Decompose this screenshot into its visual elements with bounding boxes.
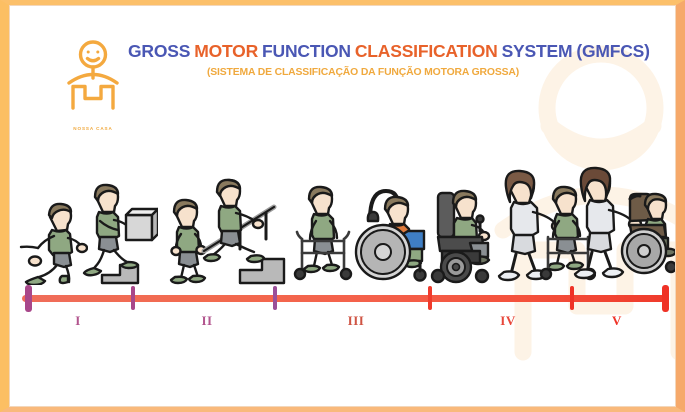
timeline-tick xyxy=(428,286,432,310)
timeline-axis xyxy=(22,295,665,302)
title-word: MOTOR xyxy=(194,41,258,61)
page-title: GROSSMOTORFUNCTIONCLASSIFICATIONSYSTEM(G… xyxy=(128,40,633,62)
title-word: CLASSIFICATION xyxy=(355,41,498,61)
timeline-tick xyxy=(662,285,669,312)
gmfcs-poster: NOSSA CASA GROSSMOTORFUNCTIONCLASSIFICAT… xyxy=(0,0,685,412)
title-word: GROSS xyxy=(128,41,190,61)
gmfcs-figures-strip xyxy=(0,140,685,285)
poster-header: NOSSA CASA GROSSMOTORFUNCTIONCLASSIFICAT… xyxy=(0,30,685,110)
page-subtitle: (SISTEMA DE CLASSIFICAÇÃO DA FUNÇÃO MOTO… xyxy=(128,67,598,78)
figure-child-carrying-box-up-stairs xyxy=(76,179,158,285)
timeline-tick xyxy=(570,286,574,310)
title-word: SYSTEM xyxy=(502,41,573,61)
nossa-casa-logo-icon xyxy=(58,38,128,110)
title-word: (GMFCS) xyxy=(576,41,649,61)
figure-child-self-propelling-manual-wheelchair xyxy=(350,183,428,285)
gmfcs-level-timeline: IIIIIIIVV xyxy=(0,285,685,345)
level-label-v: V xyxy=(612,313,622,329)
timeline-tick xyxy=(131,286,135,310)
level-label-ii: II xyxy=(201,313,212,329)
level-label-iv: IV xyxy=(500,313,515,329)
level-label-iii: III xyxy=(348,313,365,329)
timeline-tick xyxy=(25,285,32,312)
title-block: GROSSMOTORFUNCTIONCLASSIFICATIONSYSTEM(G… xyxy=(128,40,633,78)
figure-adult-pushing-child-in-manual-wheelchair xyxy=(568,163,676,285)
figure-child-climbing-stairs-with-handrail xyxy=(196,177,288,285)
timeline-tick xyxy=(273,286,277,310)
level-label-i: I xyxy=(75,313,81,329)
brand-name: NOSSA CASA xyxy=(58,126,128,131)
title-word: FUNCTION xyxy=(262,41,351,61)
figure-child-in-powered-wheelchair xyxy=(426,181,496,285)
